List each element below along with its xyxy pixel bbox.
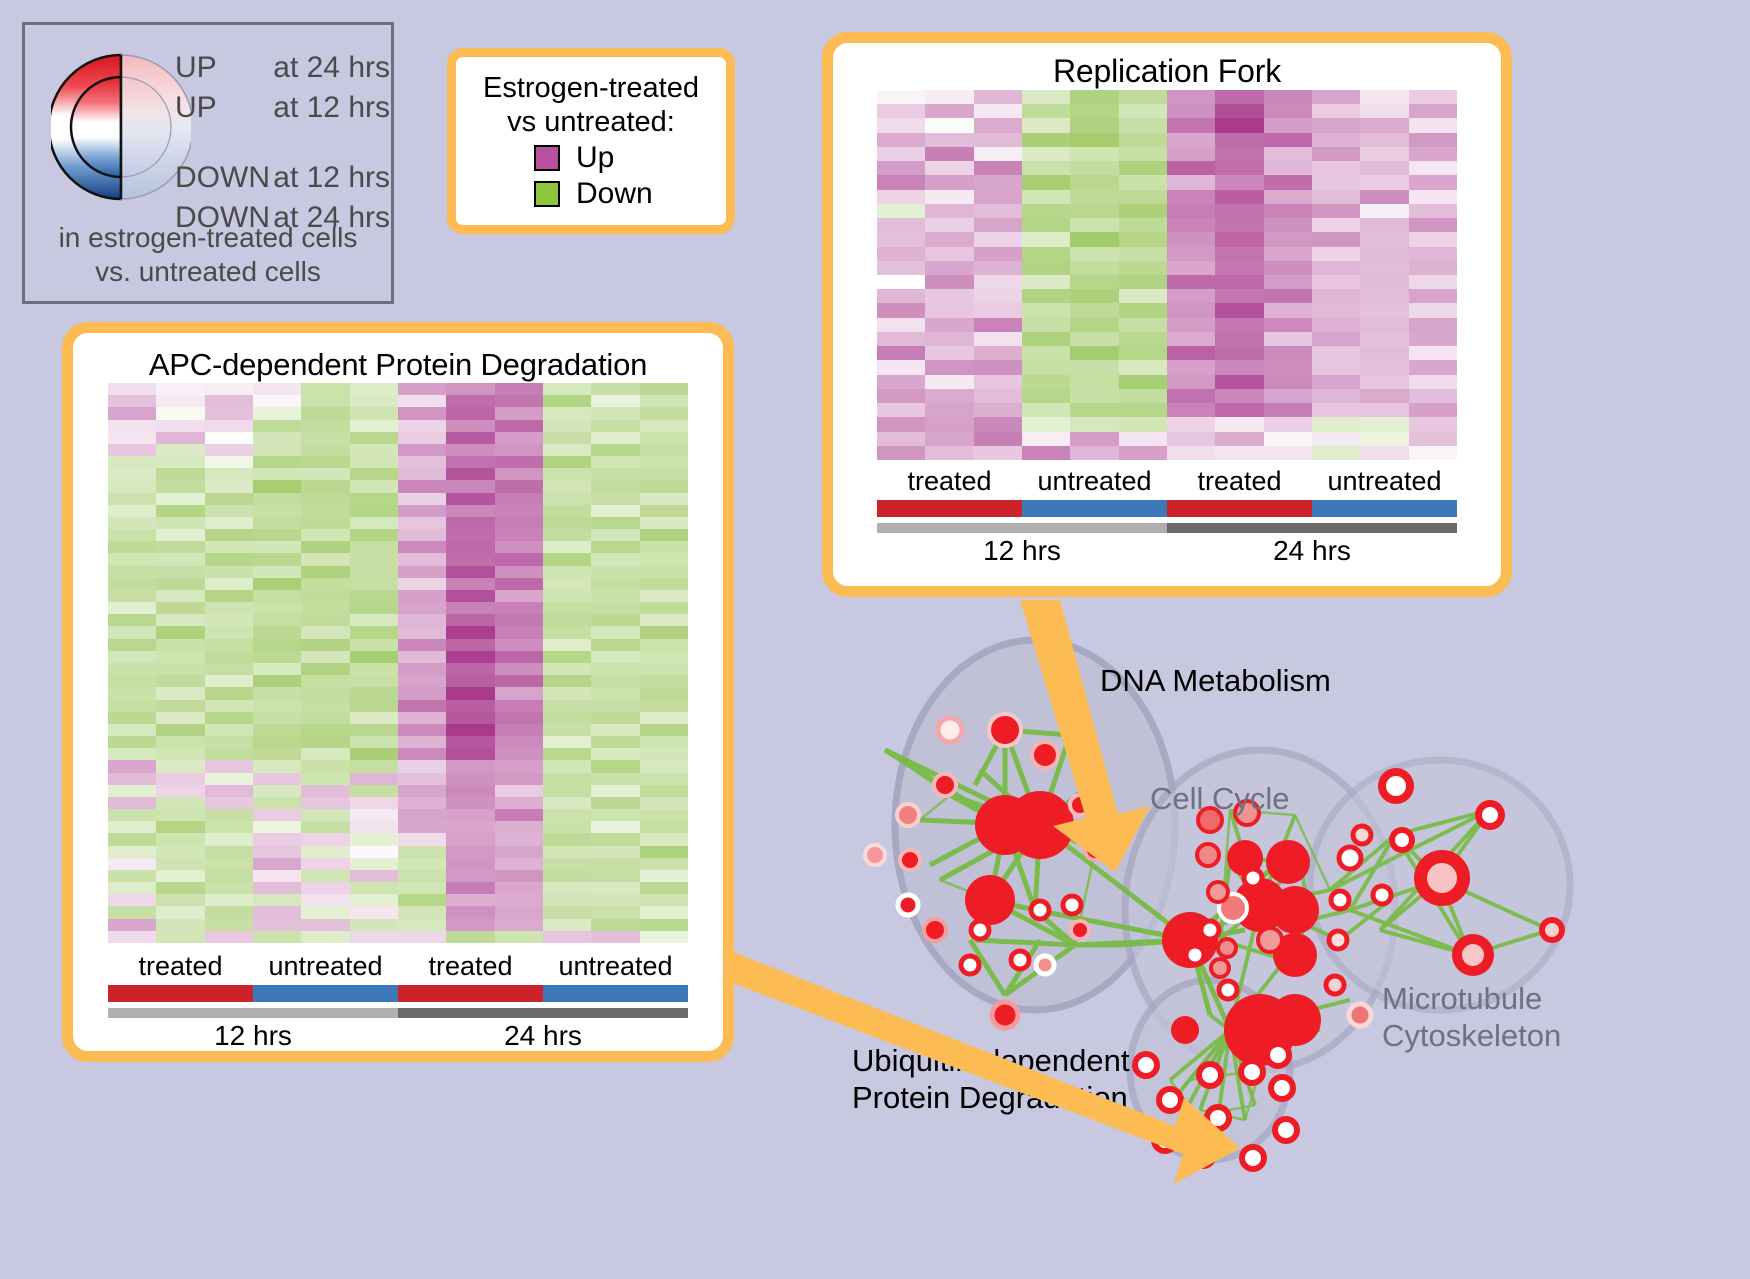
heatmap-cell	[974, 318, 1022, 332]
heatmap-cell	[108, 553, 156, 565]
heatmap-cell	[974, 133, 1022, 147]
heatmap-cell	[398, 773, 446, 785]
heatmap-cell	[877, 204, 925, 218]
heatmap-cell	[591, 420, 639, 432]
network-node	[924, 919, 946, 941]
heatmap-cell	[205, 748, 253, 760]
time-label: 24 hrs	[1167, 535, 1457, 567]
heatmap-cell	[543, 541, 591, 553]
heatmap-cell	[156, 420, 204, 432]
heatmap-cell	[1360, 147, 1408, 161]
heatmap-cell	[1409, 218, 1457, 232]
heatmap-cell	[108, 663, 156, 675]
heatmap-cell	[591, 480, 639, 492]
heatmap-cell	[495, 420, 543, 432]
heatmap-cell	[205, 846, 253, 858]
legend-item-down: Down	[534, 177, 726, 211]
heatmap-cell	[156, 748, 204, 760]
heatmap-cell	[1167, 446, 1215, 460]
heatmap-cell	[301, 529, 349, 541]
heatmap-cell	[640, 505, 688, 517]
condition-bar-segment	[1312, 500, 1457, 517]
heatmap-cell	[1409, 289, 1457, 303]
heatmap-cell	[446, 894, 494, 906]
heatmap-cell	[108, 529, 156, 541]
heatmap-cell	[640, 906, 688, 918]
heatmap-cell	[301, 456, 349, 468]
heatmap-cell	[640, 407, 688, 419]
heatmap-cell	[974, 289, 1022, 303]
heatmap-cell	[1312, 261, 1360, 275]
heatmap-cell	[1215, 417, 1263, 431]
heatmap-cell	[591, 626, 639, 638]
heatmap-cell	[446, 529, 494, 541]
cluster-label-ubiquitin-dependent-protein-degradation: Ubiquitin-dependent Protein Degradation	[852, 1042, 1130, 1116]
heatmap-cell	[301, 882, 349, 894]
heatmap-cell	[1167, 118, 1215, 132]
heatmap-cell	[398, 602, 446, 614]
heatmap-cell	[877, 346, 925, 360]
heatmap-cell	[591, 748, 639, 760]
heatmap-cell	[591, 566, 639, 578]
heatmap-cell	[925, 303, 973, 317]
heatmap-cell	[156, 407, 204, 419]
heatmap-cell	[108, 468, 156, 480]
network-node	[1329, 931, 1347, 949]
heatmap-cell	[543, 444, 591, 456]
heatmap-cell	[974, 432, 1022, 446]
time-label: 24 hrs	[398, 1020, 688, 1052]
heatmap-cell	[1360, 389, 1408, 403]
heatmap-cell	[591, 882, 639, 894]
heatmap-cell	[253, 687, 301, 699]
heatmap-cell	[398, 797, 446, 809]
heatmap-cell	[1312, 346, 1360, 360]
heatmap-cell	[1312, 90, 1360, 104]
heatmap-cell	[398, 468, 446, 480]
heatmap-cell	[543, 505, 591, 517]
heatmap-cell	[1070, 204, 1118, 218]
heatmap-cell	[446, 395, 494, 407]
heatmap-cell	[1022, 432, 1070, 446]
heatmap-cell	[253, 432, 301, 444]
heatmap-cell	[495, 590, 543, 602]
heatmap-cell	[974, 147, 1022, 161]
heatmap-cell	[1022, 161, 1070, 175]
network-node	[1186, 946, 1204, 964]
heatmap-axis-replication: treated untreated treated untreated 12 h…	[877, 466, 1457, 567]
heatmap-cell	[1070, 275, 1118, 289]
heatmap-cell	[1409, 118, 1457, 132]
heatmap-cell	[398, 566, 446, 578]
heatmap-cell	[543, 797, 591, 809]
heatmap-cell	[495, 906, 543, 918]
heatmap-cell	[1119, 147, 1167, 161]
heatmap-cell	[446, 882, 494, 894]
heatmap-cell	[1215, 318, 1263, 332]
heatmap-cell	[640, 651, 688, 663]
heatmap-cell	[1409, 204, 1457, 218]
heatmap-cell	[1022, 175, 1070, 189]
heatmap-cell	[350, 724, 398, 736]
heatmap-cell	[495, 919, 543, 931]
heatmap-cell	[1167, 218, 1215, 232]
heatmap-cell	[1022, 218, 1070, 232]
heatmap-cell	[156, 493, 204, 505]
heatmap-cell	[1119, 318, 1167, 332]
heatmap-cell	[446, 748, 494, 760]
heatmap-cell	[495, 833, 543, 845]
heatmap-cell	[1360, 118, 1408, 132]
network-node	[1199, 1064, 1221, 1086]
heatmap-cell	[1022, 232, 1070, 246]
heatmap-cell	[156, 919, 204, 931]
heatmap-cell	[1264, 360, 1312, 374]
heatmap-cell	[495, 602, 543, 614]
network-node	[989, 714, 1021, 746]
heatmap-cell	[640, 833, 688, 845]
heatmap-cell	[1022, 104, 1070, 118]
heatmap-cell	[205, 420, 253, 432]
heatmap-cell	[543, 590, 591, 602]
heatmap-cell	[156, 480, 204, 492]
condition-label: treated	[398, 951, 543, 982]
condition-label: untreated	[1022, 466, 1167, 497]
heatmap-cell	[1409, 147, 1457, 161]
heatmap-cell	[1119, 275, 1167, 289]
network-node	[1373, 886, 1391, 904]
heatmap-cell	[974, 332, 1022, 346]
heatmap-cell	[495, 553, 543, 565]
heatmap-cell	[1215, 275, 1263, 289]
heatmap-cell	[877, 389, 925, 403]
heatmap-cell	[1312, 275, 1360, 289]
heatmap-cell	[301, 760, 349, 772]
heatmap-cell	[1070, 261, 1118, 275]
heatmap-cell	[1409, 318, 1457, 332]
heatmap-cell	[253, 480, 301, 492]
heatmap-cell	[1167, 375, 1215, 389]
heatmap-cell	[350, 906, 398, 918]
key-time: at 24 hrs	[273, 51, 390, 85]
heatmap-cell	[543, 420, 591, 432]
heatmap-cell	[108, 432, 156, 444]
heatmap-cell	[446, 553, 494, 565]
heatmap-cell	[156, 663, 204, 675]
heatmap-cell	[591, 785, 639, 797]
heatmap-cell	[108, 566, 156, 578]
heatmap-cell	[1070, 232, 1118, 246]
heatmap-cell	[543, 833, 591, 845]
heatmap-cell	[974, 90, 1022, 104]
heatmap-cell	[398, 432, 446, 444]
heatmap-cell	[591, 809, 639, 821]
cluster-label-dna-metabolism: DNA Metabolism	[1100, 662, 1331, 699]
heatmap-cell	[591, 919, 639, 931]
up-swatch-icon	[534, 145, 560, 171]
condition-label: untreated	[253, 951, 398, 982]
heatmap-cell	[253, 383, 301, 395]
heatmap-cell	[640, 919, 688, 931]
heatmap-cell	[1167, 161, 1215, 175]
heatmap-cell	[1360, 275, 1408, 289]
heatmap-cell	[974, 104, 1022, 118]
heatmap-cell	[446, 578, 494, 590]
heatmap-cell	[495, 675, 543, 687]
heatmap-cell	[1167, 318, 1215, 332]
heatmap-cell	[1022, 118, 1070, 132]
heatmap-cell	[877, 318, 925, 332]
heatmap-cell	[156, 432, 204, 444]
heatmap-cell	[495, 724, 543, 736]
heatmap-cell	[925, 190, 973, 204]
heatmap-cell	[1264, 275, 1312, 289]
heatmap-cell	[253, 748, 301, 760]
network-node	[1258, 928, 1282, 952]
heatmap-cell	[877, 417, 925, 431]
heatmap-cell	[495, 858, 543, 870]
heatmap-cell	[877, 175, 925, 189]
heatmap-cell	[108, 773, 156, 785]
heatmap-cell	[1022, 360, 1070, 374]
heatmap-cell	[591, 797, 639, 809]
heatmap-cell	[253, 639, 301, 651]
heatmap-cell	[1215, 161, 1263, 175]
heatmap-cell	[205, 724, 253, 736]
heatmap-cell	[495, 894, 543, 906]
heatmap-cell	[1167, 403, 1215, 417]
heatmap-cell	[108, 602, 156, 614]
key-direction: UP	[175, 91, 273, 125]
heatmap-cell	[205, 444, 253, 456]
heatmap-cell	[205, 529, 253, 541]
time-color-bar	[877, 523, 1457, 533]
condition-labels: treated untreated treated untreated	[108, 951, 688, 982]
heatmap-cell	[301, 821, 349, 833]
heatmap-cell	[350, 894, 398, 906]
heatmap-cell	[108, 675, 156, 687]
heatmap-cell	[640, 639, 688, 651]
time-label: 12 hrs	[877, 535, 1167, 567]
heatmap-cell	[1070, 190, 1118, 204]
cluster-label-microtubule-cytoskeleton: Microtubule Cytoskeleton	[1382, 980, 1561, 1054]
heatmap-cell	[1360, 232, 1408, 246]
heatmap-cell	[156, 724, 204, 736]
heatmap-cell	[1070, 218, 1118, 232]
heatmap-cell	[398, 395, 446, 407]
heatmap-cell	[446, 736, 494, 748]
heatmap-cell	[301, 639, 349, 651]
heatmap-cell	[1360, 261, 1408, 275]
down-swatch-icon	[534, 181, 560, 207]
heatmap-cell	[156, 687, 204, 699]
network-node	[1545, 923, 1559, 937]
heatmap-cell	[591, 700, 639, 712]
heatmap-cell	[156, 797, 204, 809]
heatmap-cell	[205, 651, 253, 663]
heatmap-cell	[301, 858, 349, 870]
heatmap-cell	[1167, 303, 1215, 317]
heatmap-cell	[1215, 289, 1263, 303]
heatmap-cell	[301, 614, 349, 626]
heatmap-cell	[108, 456, 156, 468]
heatmap-cell	[1360, 303, 1408, 317]
heatmap-cell	[1312, 432, 1360, 446]
heatmap-cell	[1070, 375, 1118, 389]
heatmap-cell	[1215, 432, 1263, 446]
heatmap-cell	[156, 760, 204, 772]
heatmap-cell	[1312, 318, 1360, 332]
heatmap-cell	[877, 104, 925, 118]
heatmap-cell	[205, 919, 253, 931]
heatmap-cell	[1360, 332, 1408, 346]
heatmap-cell	[543, 882, 591, 894]
heatmap-cell	[350, 420, 398, 432]
heatmap-cell	[205, 395, 253, 407]
heatmap-cell	[350, 712, 398, 724]
heatmap-cell	[1264, 90, 1312, 104]
heatmap-cell	[1264, 303, 1312, 317]
heatmap-cell	[108, 870, 156, 882]
heatmap-cell	[640, 480, 688, 492]
condition-bar-segment	[253, 985, 398, 1002]
heatmap-cell	[156, 833, 204, 845]
heatmap-cell	[1312, 375, 1360, 389]
heatmap-cell	[446, 724, 494, 736]
condition-label: treated	[108, 951, 253, 982]
heatmap-cell	[974, 204, 1022, 218]
heatmap-cell	[350, 456, 398, 468]
heatmap-cell	[495, 614, 543, 626]
heatmap-cell	[495, 846, 543, 858]
heatmap-cell	[1119, 232, 1167, 246]
heatmap-cell	[1360, 346, 1408, 360]
heatmap-cell	[156, 578, 204, 590]
heatmap-cell	[1167, 190, 1215, 204]
heatmap-cell	[156, 651, 204, 663]
heatmap-cell	[350, 785, 398, 797]
heatmap-cell	[1360, 375, 1408, 389]
heatmap-cell	[1215, 346, 1263, 360]
heatmap-cell	[640, 700, 688, 712]
heatmap-cell	[974, 275, 1022, 289]
network-node	[897, 804, 919, 826]
heatmap-cell	[301, 566, 349, 578]
heatmap-cell	[108, 809, 156, 821]
heatmap-cell	[156, 809, 204, 821]
heatmap-cell	[591, 493, 639, 505]
heatmap-cell	[640, 712, 688, 724]
key-row-down-12: DOWN at 12 hrs	[175, 161, 390, 201]
heatmap-cell	[1360, 417, 1408, 431]
heatmap-cell	[108, 700, 156, 712]
heatmap-cell	[543, 566, 591, 578]
network-node	[1269, 994, 1321, 1046]
heatmap-cell	[1119, 261, 1167, 275]
network-node	[965, 875, 1015, 925]
heatmap-cell	[1119, 446, 1167, 460]
heatmap-cell	[156, 468, 204, 480]
color-key-rows: UP at 24 hrs UP at 12 hrs DOWN at 12 hrs…	[175, 51, 390, 241]
heatmap-cell	[974, 118, 1022, 132]
heatmap-cell	[205, 931, 253, 943]
heatmap-cell	[446, 493, 494, 505]
heatmap-cell	[974, 389, 1022, 403]
heatmap-cell	[108, 590, 156, 602]
heatmap-cell	[398, 906, 446, 918]
heatmap-cell	[156, 626, 204, 638]
heatmap-cell	[253, 444, 301, 456]
heatmap-cell	[877, 247, 925, 261]
heatmap-cell	[253, 493, 301, 505]
heatmap-cell	[543, 456, 591, 468]
heatmap-cell	[1264, 118, 1312, 132]
heatmap-cell	[1022, 403, 1070, 417]
heatmap-cell	[495, 407, 543, 419]
heatmap-cell	[1070, 303, 1118, 317]
heatmap-cell	[350, 614, 398, 626]
heatmap-cell	[108, 748, 156, 760]
heatmap-cell	[1409, 190, 1457, 204]
heatmap-cell	[1167, 360, 1215, 374]
network-node	[1271, 886, 1319, 934]
heatmap-cell	[205, 456, 253, 468]
heatmap-cell	[156, 846, 204, 858]
heatmap-cell	[543, 432, 591, 444]
heatmap-cell	[156, 736, 204, 748]
heatmap-cell	[1409, 432, 1457, 446]
heatmap-cell	[1215, 303, 1263, 317]
heatmap-cell	[1167, 133, 1215, 147]
heatmap-cell	[446, 785, 494, 797]
heatmap-cell	[446, 760, 494, 772]
heatmap-cell	[1070, 133, 1118, 147]
heatmap-cell	[640, 736, 688, 748]
heatmap-cell	[1312, 204, 1360, 218]
heatmap-cell	[1264, 446, 1312, 460]
heatmap-cell	[591, 651, 639, 663]
heatmap-cell	[877, 360, 925, 374]
heatmap-cell	[205, 906, 253, 918]
heatmap-cell	[253, 505, 301, 517]
heatmap-cell	[640, 724, 688, 736]
heatmap-cell	[350, 821, 398, 833]
heatmap-cell	[495, 773, 543, 785]
heatmap-cell	[1360, 190, 1408, 204]
heatmap-cell	[1360, 175, 1408, 189]
heatmap-cell	[640, 553, 688, 565]
heatmap-cell	[350, 858, 398, 870]
heatmap-cell	[877, 446, 925, 460]
heatmap-cell	[398, 760, 446, 772]
heatmap-cell	[925, 346, 973, 360]
legend-title-line2: vs untreated:	[456, 105, 726, 139]
heatmap-cell	[495, 748, 543, 760]
heatmap-cell	[640, 383, 688, 395]
heatmap-cell	[1409, 303, 1457, 317]
network-node	[1207, 1107, 1229, 1129]
heatmap-cell	[253, 760, 301, 772]
heatmap-cell	[205, 870, 253, 882]
heatmap-cell	[1409, 133, 1457, 147]
heatmap-cell	[974, 446, 1022, 460]
heatmap-cell	[640, 456, 688, 468]
heatmap-cell	[398, 614, 446, 626]
heatmap-cell	[1022, 446, 1070, 460]
heatmap-cell	[253, 590, 301, 602]
heatmap-cell	[446, 407, 494, 419]
heatmap-cell	[108, 797, 156, 809]
